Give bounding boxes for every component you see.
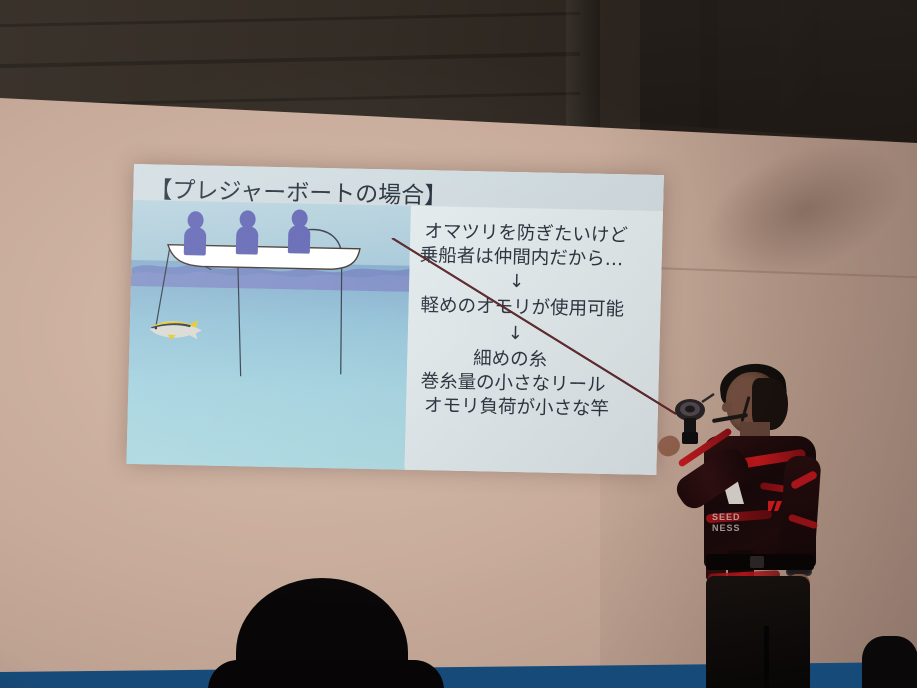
fish-icon	[145, 314, 208, 343]
figure-angler	[288, 209, 311, 253]
presenter-trousers	[706, 576, 810, 688]
figure-body	[184, 227, 207, 255]
figure-body	[288, 225, 311, 253]
audience-shoulder-silhouette	[208, 660, 444, 688]
figure-angler	[184, 211, 207, 255]
baitcasting-reel	[664, 392, 716, 448]
ceiling-seam	[0, 12, 580, 27]
figure-body	[236, 226, 259, 254]
figure-angler	[236, 210, 259, 254]
trouser-leg-gap	[764, 626, 769, 688]
presentation-photo: 【プレジャーボートの場合】 オマツリを防ぎたいけど 乗船者は仲間内だから… ↓ …	[0, 0, 917, 688]
ceiling-seam	[0, 52, 580, 68]
audience-head-silhouette	[862, 636, 917, 688]
belt-buckle	[750, 556, 764, 568]
jacket-chest-text: SEED NESS	[712, 512, 752, 546]
presenter-nose	[722, 402, 732, 412]
ceiling-pillar	[566, 0, 600, 140]
slide-title: 【プレジャーボートの場合】	[149, 170, 448, 210]
